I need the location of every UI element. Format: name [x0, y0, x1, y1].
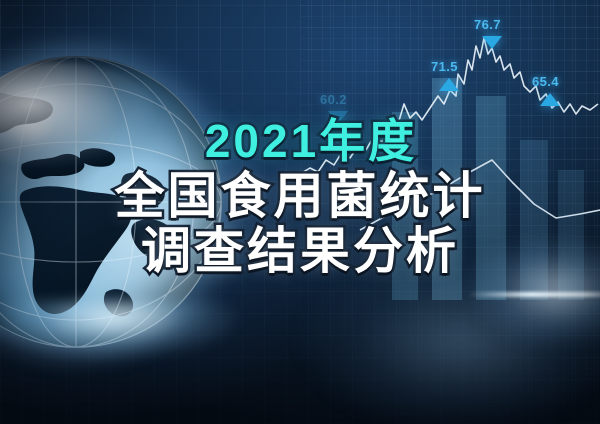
title-line-2: 全国食用菌统计: [0, 171, 600, 222]
globe-base-glow: [0, 300, 240, 360]
light-streak: [468, 292, 600, 297]
triangle-up-icon: [540, 93, 560, 106]
data-label: 76.7: [474, 17, 501, 32]
data-label: 60.2: [320, 92, 347, 107]
title-line-3: 调查结果分析: [0, 226, 600, 277]
data-label: 65.4: [532, 74, 559, 89]
poster-title: 2021年度 全国食用菌统计 调查结果分析: [0, 118, 600, 277]
triangle-up-icon: [439, 78, 459, 91]
triangle-down-icon: [482, 36, 502, 49]
poster-canvas: 60.254.871.576.765.4: [0, 0, 600, 424]
data-label: 71.5: [431, 59, 458, 74]
title-line-1: 2021年度: [22, 118, 600, 165]
